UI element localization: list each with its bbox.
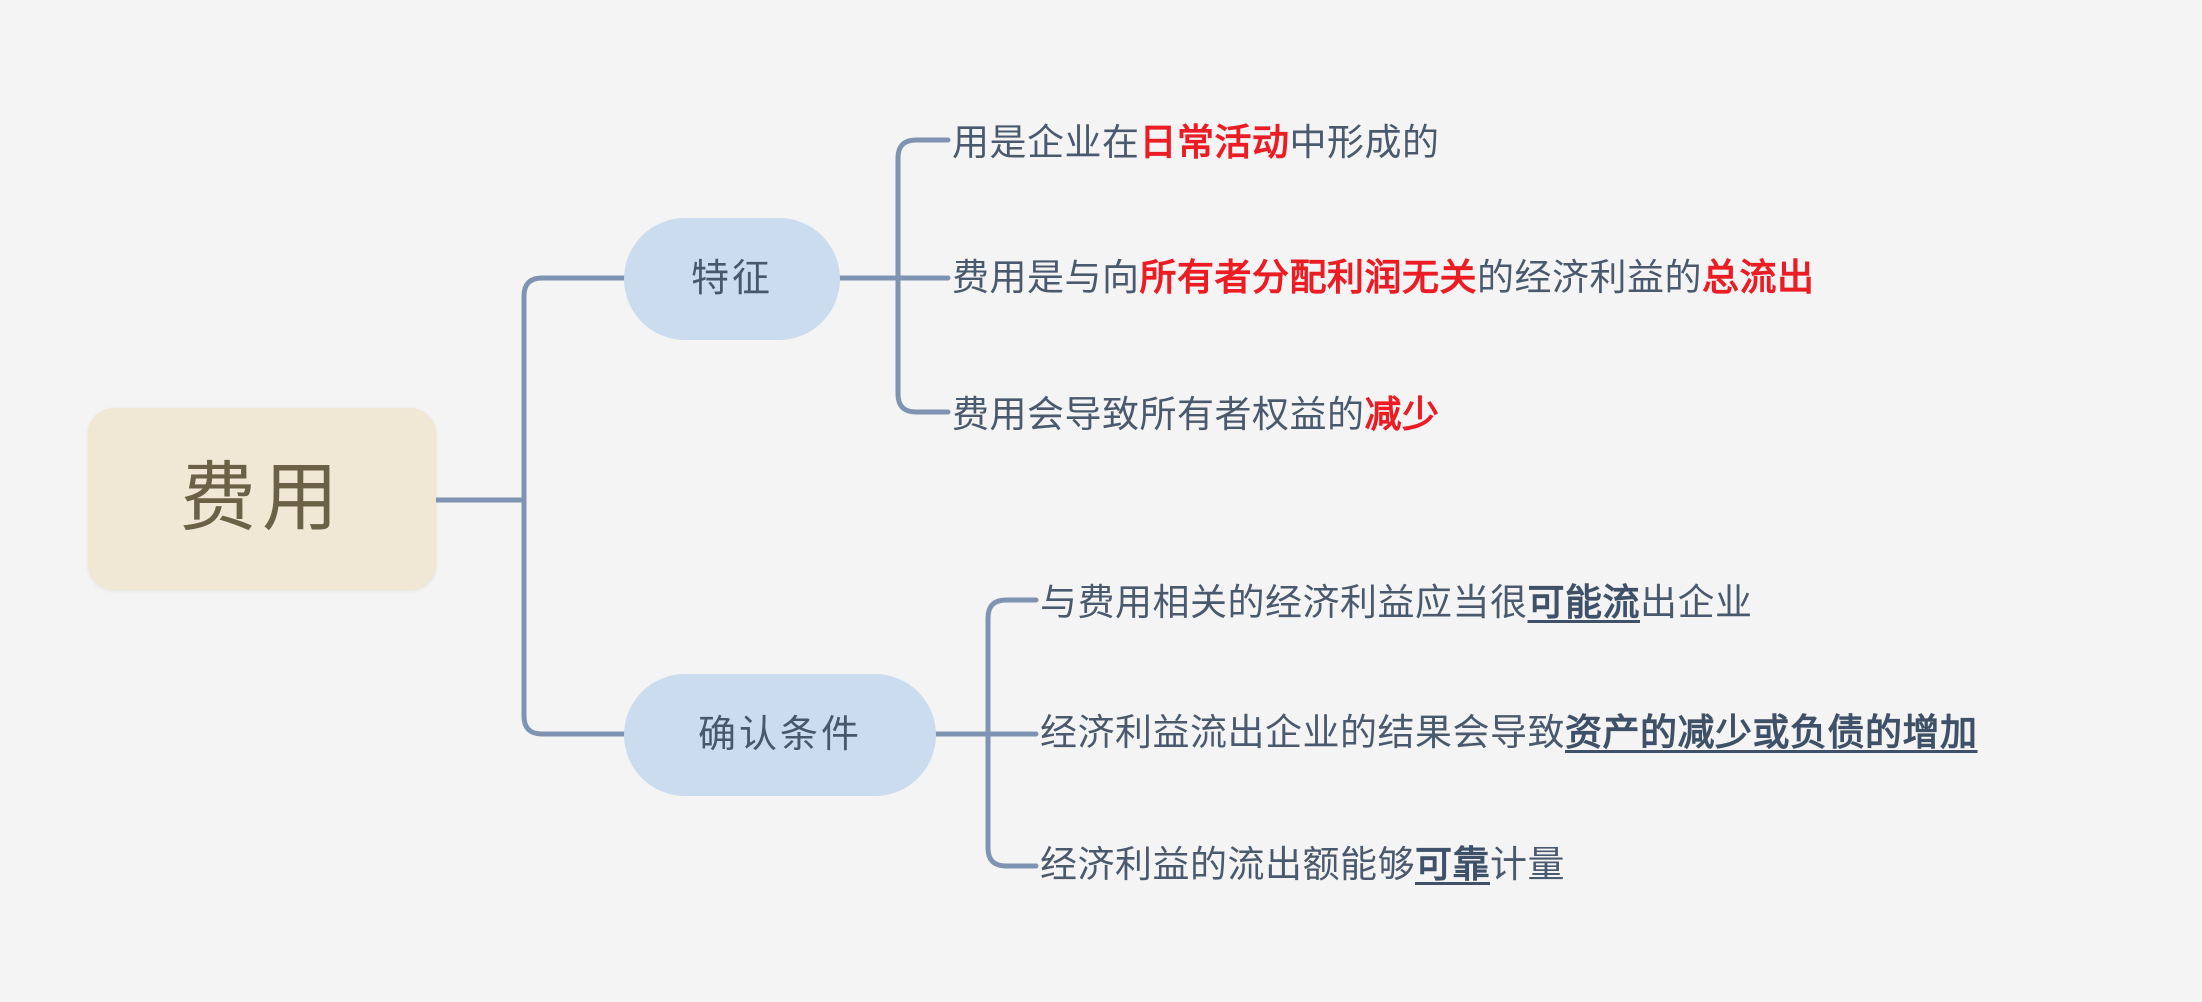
connector-trunk-to-branch-1 — [524, 500, 624, 734]
branch-node-1-label: 确认条件 — [698, 716, 862, 754]
text-segment-emph: 资产的减少或负债的增加 — [1565, 710, 1978, 756]
branch-node-0-label: 特征 — [691, 260, 773, 298]
text-segment-red: 总流出 — [1702, 255, 1815, 301]
text-segment-plain: 费用会导致所有者权益的 — [952, 392, 1365, 438]
root-node-label: 费用 — [180, 461, 344, 537]
text-segment-plain: 费用是与向 — [952, 255, 1140, 301]
text-segment-red: 日常活动 — [1140, 120, 1290, 166]
text-segment-plain: 出企业 — [1640, 580, 1753, 626]
text-segment-red: 所有者分配利润无关 — [1140, 255, 1478, 301]
text-segment-plain: 计量 — [1490, 842, 1565, 888]
text-segment-plain: 中形成的 — [1290, 120, 1440, 166]
connector-trunk-to-branch-0 — [524, 278, 624, 500]
text-segment-emph: 可靠 — [1415, 842, 1490, 888]
leaf-node-conditions-1[interactable]: 与费用相关的经济利益应当很可能流出企业 — [1040, 580, 1753, 626]
root-node[interactable]: 费用 — [88, 408, 436, 590]
text-segment-emph: 可能流 — [1528, 580, 1641, 626]
text-segment-red: 减少 — [1365, 392, 1440, 438]
leaf-node-characteristics-3[interactable]: 费用会导致所有者权益的减少 — [952, 392, 1440, 438]
connector-branch-0-leaf-2 — [898, 278, 948, 412]
text-segment-plain: 用是企业在 — [952, 120, 1140, 166]
mindmap-canvas: 费用 特征 确认条件 用是企业在日常活动中形成的 费用是与向所有者分配利润无关的… — [0, 0, 2202, 1002]
leaf-node-characteristics-2[interactable]: 费用是与向所有者分配利润无关的经济利益的总流出 — [952, 255, 1815, 301]
text-segment-plain: 的经济利益的 — [1477, 255, 1702, 301]
text-segment-plain: 经济利益流出企业的结果会导致 — [1040, 710, 1565, 756]
leaf-node-conditions-2[interactable]: 经济利益流出企业的结果会导致资产的减少或负债的增加 — [1040, 710, 1978, 756]
text-segment-plain: 与费用相关的经济利益应当很 — [1040, 580, 1528, 626]
text-segment-plain: 经济利益的流出额能够 — [1040, 842, 1415, 888]
connector-branch-1-leaf-2 — [988, 734, 1036, 866]
branch-node-recognition-conditions[interactable]: 确认条件 — [624, 674, 936, 796]
connector-branch-1-leaf-0 — [988, 600, 1036, 734]
leaf-node-characteristics-1[interactable]: 用是企业在日常活动中形成的 — [952, 120, 1440, 166]
connector-branch-0-leaf-0 — [898, 140, 948, 278]
leaf-node-conditions-3[interactable]: 经济利益的流出额能够可靠计量 — [1040, 842, 1565, 888]
branch-node-characteristics[interactable]: 特征 — [624, 218, 840, 340]
